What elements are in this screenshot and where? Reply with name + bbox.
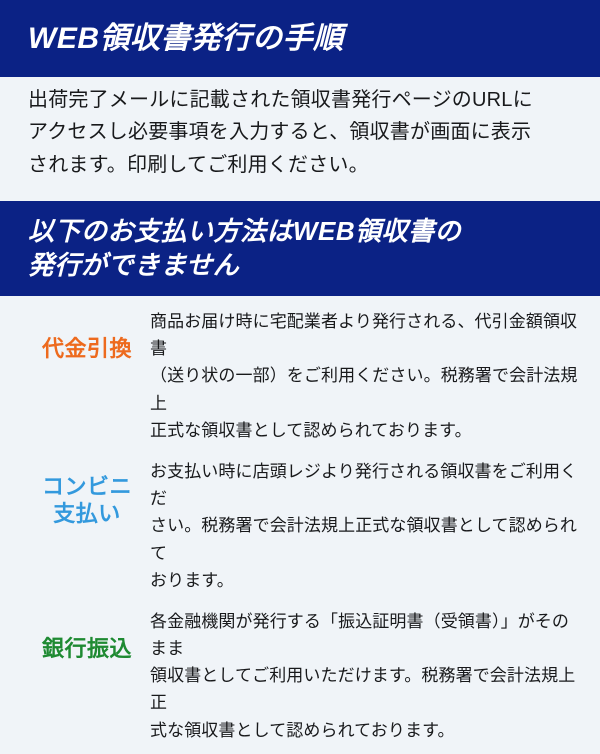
payment-method-label-konbini: コンビニ 支払い — [28, 473, 146, 528]
receipt-instructions-page: WEB領収書発行の手順 出荷完了メールに記載された領収書発行ページのURLに ア… — [0, 0, 600, 600]
payment-methods-list: 代金引換 商品お届け時に宅配業者より発行される、代引金額領収書 （送り状の一部）… — [0, 308, 600, 754]
payment-method-description-cod: 商品お届け時に宅配業者より発行される、代引金額領収書 （送り状の一部）をご利用く… — [150, 308, 600, 444]
unsupported-methods-banner: 以下のお支払い方法はWEB領収書の 発行ができません — [0, 201, 600, 296]
page-title: WEB領収書発行の手順 — [28, 21, 572, 56]
payment-method-description-konbini: お支払い時に店頭レジより発行される領収書をご利用くだ さい。税務署で会計法規上正… — [150, 458, 600, 594]
unsupported-methods-heading: 以下のお支払い方法はWEB領収書の 発行ができません — [28, 215, 572, 282]
payment-method-row-furikomi: 銀行振込 各金融機関が発行する「振込証明書（受領書）」がそのまま 領収書としてご… — [0, 608, 600, 744]
payment-method-label-cod: 代金引換 — [28, 335, 146, 363]
intro-paragraph: 出荷完了メールに記載された領収書発行ページのURLに アクセスし必要事項を入力す… — [28, 84, 576, 181]
payment-method-label-furikomi: 銀行振込 — [28, 635, 146, 663]
payment-method-row-konbini: コンビニ 支払い お支払い時に店頭レジより発行される領収書をご利用くだ さい。税… — [0, 458, 600, 594]
payment-method-row-cod: 代金引換 商品お届け時に宅配業者より発行される、代引金額領収書 （送り状の一部）… — [0, 308, 600, 444]
payment-method-description-furikomi: 各金融機関が発行する「振込証明書（受領書）」がそのまま 領収書としてご利用いただ… — [150, 608, 600, 744]
main-header-banner: WEB領収書発行の手順 — [0, 0, 600, 77]
